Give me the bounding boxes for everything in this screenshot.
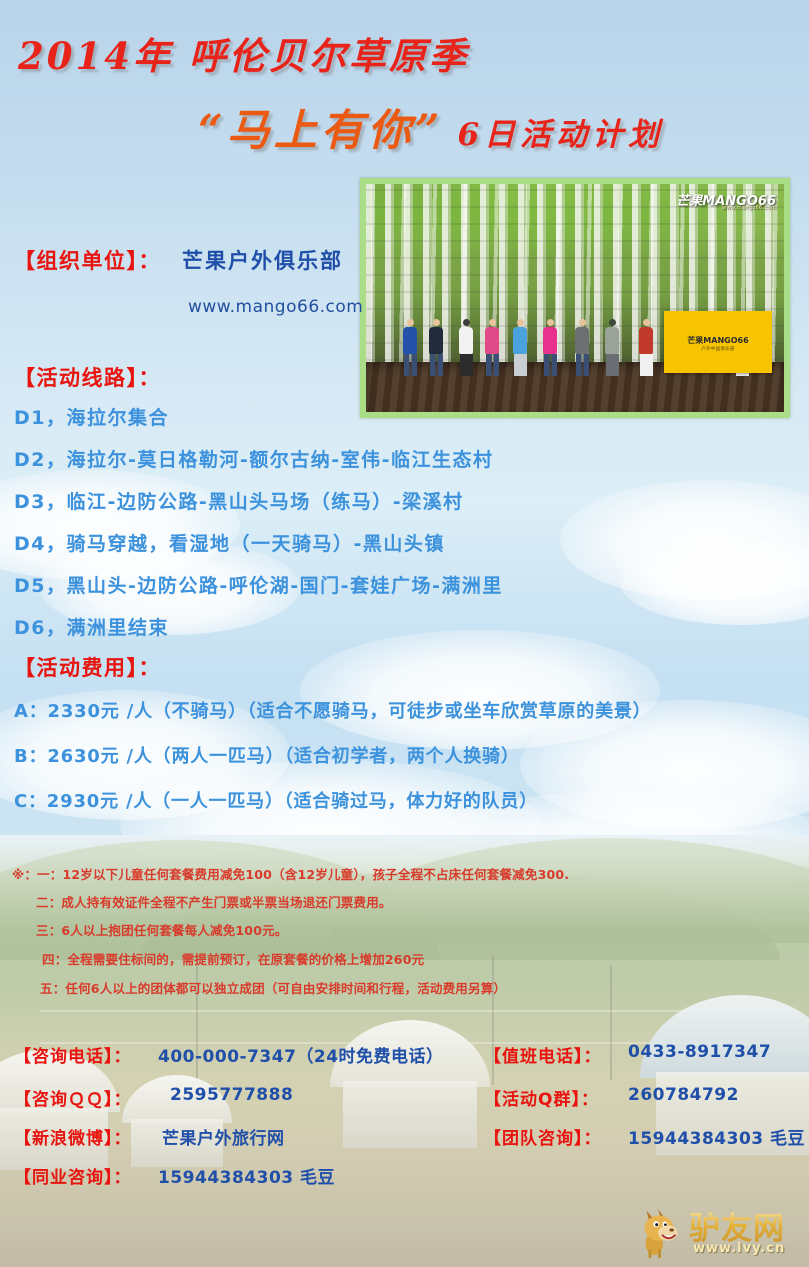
duty-phone-value: 0433-8917347	[628, 1042, 771, 1062]
poster-canvas: 2014年 呼伦贝尔草原季 “马上有你”6日活动计划	[0, 0, 809, 1267]
organizer-website[interactable]: www.mango66.com	[188, 297, 363, 317]
weibo-value: 芒果户外旅行网	[162, 1124, 285, 1149]
team-consult-label: 【团队咨询】：	[484, 1124, 602, 1149]
poster-title-block: 2014年 呼伦贝尔草原季 “马上有你”6日活动计划	[0, 0, 809, 175]
person-figure	[604, 319, 620, 376]
person-figure	[484, 319, 500, 376]
route-day-3: D3，临江-边防公路-黑山头马场（练马）-梁溪村	[14, 487, 464, 514]
note-item-4: 四：全程需要住标间的，需提前预订，在原套餐的价格上增加260元	[42, 949, 424, 968]
hotline-value: 400-000-7347（24时免费电话）	[158, 1042, 444, 1067]
route-day-2: D2，海拉尔-莫日格勒河-额尔古纳-室伟-临江生态村	[14, 445, 494, 472]
title-line-1: 2014年 呼伦贝尔草原季	[18, 26, 469, 80]
person-figure	[402, 319, 418, 376]
person-figure	[512, 319, 528, 376]
banner-main-text: 芒果MANGO66	[664, 311, 772, 346]
note-item-5: 五：任何6人以上的团体都可以独立成团（可自由安排时间和行程，活动费用另算）	[40, 978, 506, 997]
route-day-4: D4，骑马穿越，看湿地（一天骑马）-黑山头镇	[14, 529, 445, 556]
fees-heading: 【活动费用】：	[14, 652, 161, 682]
team-consult-value: 15944384303 毛豆	[628, 1124, 805, 1149]
note-item-3: 三：6人以上抱团任何套餐每人减免100元。	[36, 920, 288, 939]
route-heading: 【活动线路】：	[14, 362, 161, 392]
route-day-6: D6，满洲里结束	[14, 613, 169, 640]
title-slogan: “马上有你”	[198, 106, 443, 156]
organizer-value: 芒果户外俱乐部	[182, 245, 343, 275]
note-item-1: ※：一：12岁以下儿童任何套餐费用减免100（含12岁儿童），孩子全程不占床任何…	[12, 864, 569, 883]
donkey-icon	[633, 1201, 691, 1259]
person-figure	[574, 319, 590, 376]
hotline-label: 【咨询电话】：	[14, 1042, 132, 1067]
qq-value: 2595777888	[170, 1085, 293, 1105]
fee-option-a: A：2330元 /人（不骑马）（适合不愿骑马，可徒步或坐车欣赏草原的美景）	[14, 697, 651, 723]
fee-option-c: C：2930元 /人（一人一匹马）（适合骑过马，体力好的队员）	[14, 787, 538, 813]
photo-watermark-url: www.mango66.com	[722, 205, 776, 211]
title-subtitle: 6日活动计划	[457, 117, 664, 153]
person-figure	[458, 319, 474, 376]
organizer-label: 【组织单位】：	[14, 245, 161, 275]
banner-sub-text: 户外中国俱乐部	[664, 346, 772, 352]
duty-phone-label: 【值班电话】：	[484, 1042, 602, 1067]
note-item-2: 二：成人持有效证件全程不产生门票或半票当场退还门票费用。	[36, 892, 392, 911]
title-line-2: “马上有你”6日活动计划	[198, 96, 664, 158]
trade-consult-label: 【同业咨询】：	[14, 1163, 132, 1188]
group-photo: 芒果MANGO66 户外中国俱乐部 芒果MANGO66 www.mango66.…	[366, 184, 784, 412]
watermark-url[interactable]: www.lvy.cn	[693, 1241, 785, 1256]
group-photo-frame: 芒果MANGO66 户外中国俱乐部 芒果MANGO66 www.mango66.…	[360, 178, 790, 418]
site-watermark: 驴友网 www.lvy.cn	[631, 1197, 803, 1263]
person-figure	[542, 319, 558, 376]
weibo-label: 【新浪微博】：	[14, 1124, 132, 1149]
qq-label: 【咨询ＱＱ】：	[14, 1085, 132, 1110]
qq-group-value: 260784792	[628, 1085, 739, 1105]
person-figure	[638, 319, 654, 376]
route-day-5: D5，黑山头-边防公路-呼伦湖-国门-套娃广场-满洲里	[14, 571, 503, 598]
qq-group-label: 【活动Q群】：	[484, 1085, 599, 1110]
fee-option-b: B：2630元 /人（两人一匹马）（适合初学者，两个人换骑）	[14, 742, 520, 768]
trade-consult-value: 15944384303 毛豆	[158, 1163, 335, 1188]
club-banner: 芒果MANGO66 户外中国俱乐部	[664, 311, 772, 373]
person-figure	[428, 319, 444, 376]
route-day-1: D1，海拉尔集合	[14, 403, 169, 430]
